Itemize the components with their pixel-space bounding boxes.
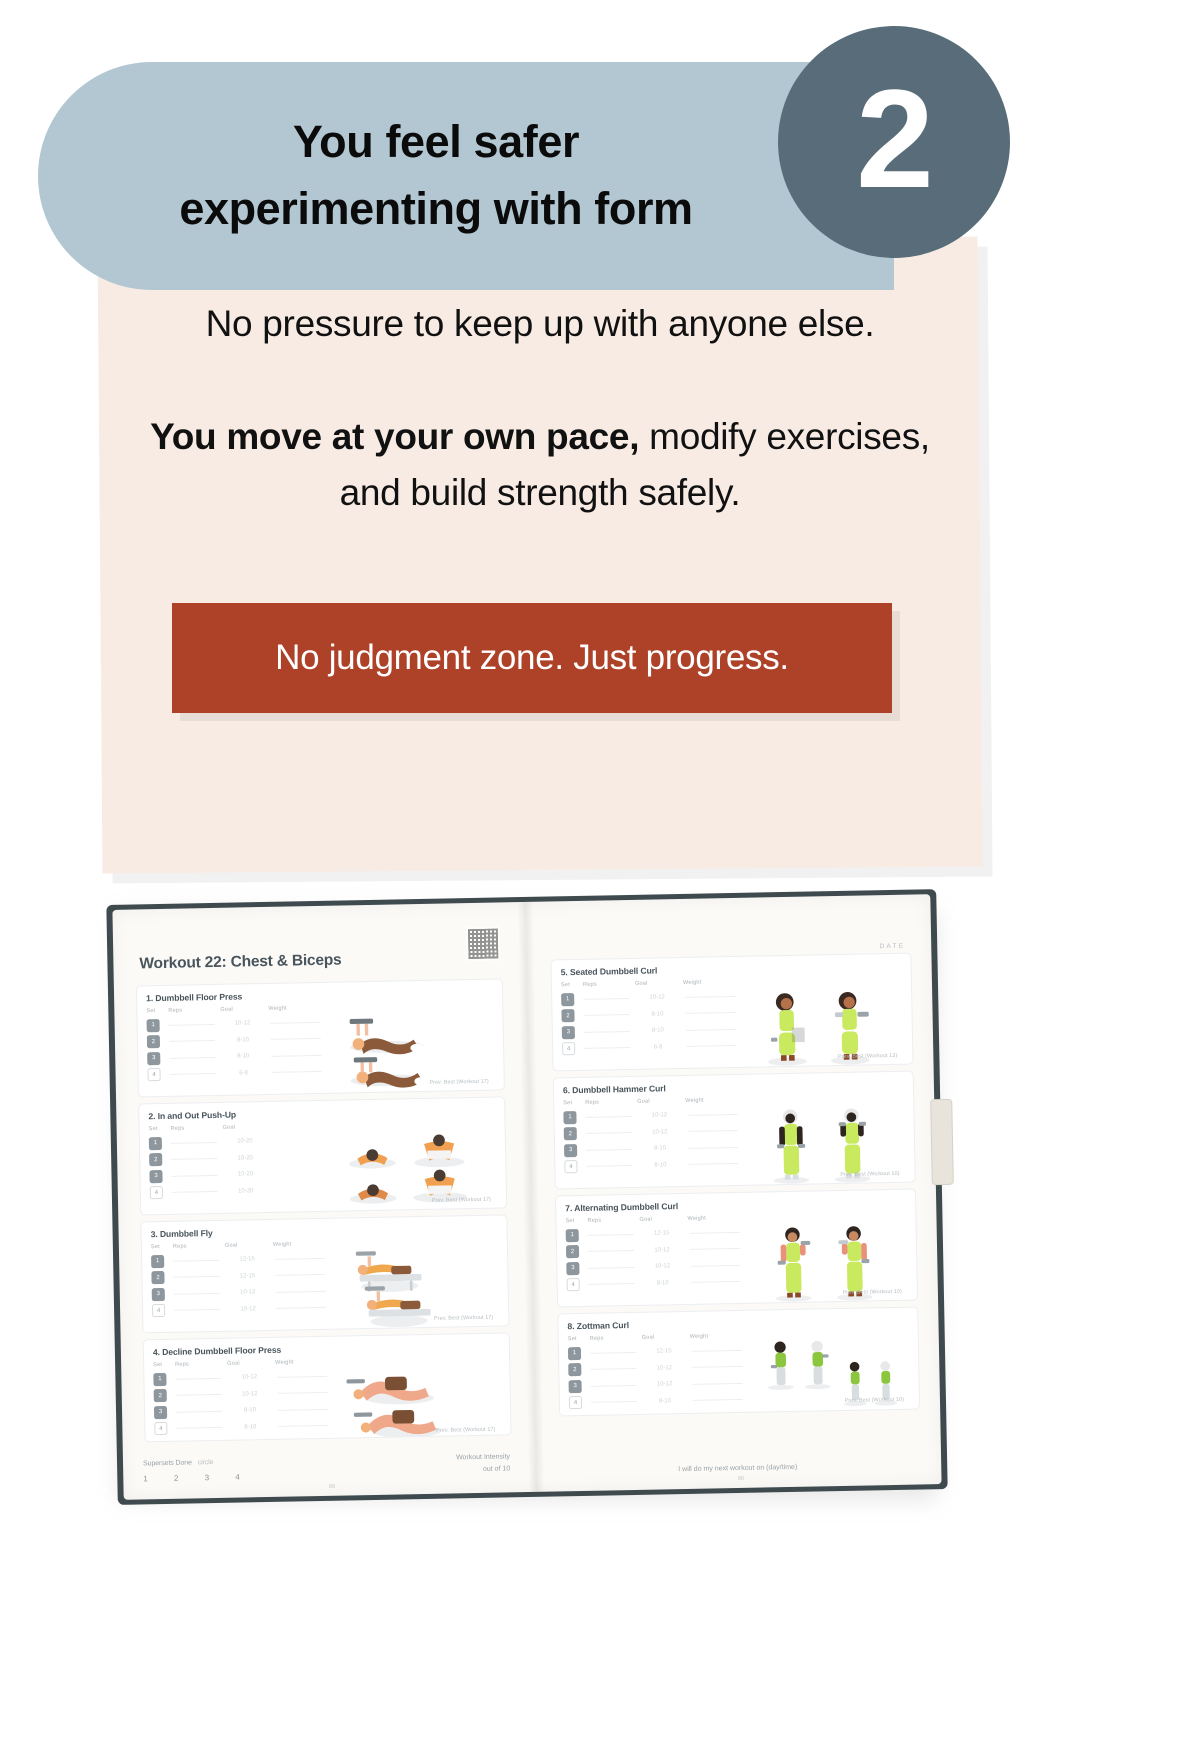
weight-field[interactable]: [271, 1038, 321, 1040]
reps-field[interactable]: [588, 1267, 634, 1269]
body-line-2: You move at your own pace, modify exerci…: [130, 409, 950, 522]
weight-field[interactable]: [693, 1383, 743, 1385]
exercise-name: 8. Zottman Curl: [567, 1315, 908, 1332]
intensity-unit: out of 10: [456, 1463, 510, 1476]
prev-best-line[interactable]: [822, 1066, 898, 1068]
set-number: 1: [566, 1229, 579, 1242]
goal-value: 10-12: [229, 1391, 271, 1398]
reps-field[interactable]: [172, 1175, 218, 1177]
table-row: 48-10: [564, 1155, 752, 1175]
notebook-right-page: DATE 5. Seated Dumbbell Curl Set Reps Go…: [521, 894, 941, 1492]
set-number: 4: [564, 1160, 577, 1173]
reps-field[interactable]: [585, 1116, 631, 1118]
body-line-1: No pressure to keep up with anyone else.: [130, 300, 950, 349]
weight-field[interactable]: [275, 1258, 325, 1260]
weight-field[interactable]: [688, 1130, 738, 1132]
page-number: 89: [329, 1484, 335, 1490]
reps-field[interactable]: [584, 1031, 630, 1033]
column-set: Set: [565, 1218, 587, 1224]
notebook-elastic-band: [930, 1099, 954, 1185]
notebook-spread: Workout 22: Chest & Biceps 1. Dumbbell F…: [112, 894, 941, 1500]
prev-best-line[interactable]: [413, 1092, 489, 1094]
weight-field[interactable]: [690, 1248, 740, 1250]
reps-field[interactable]: [173, 1276, 219, 1278]
set-number: 3: [564, 1144, 577, 1157]
prev-best-line[interactable]: [828, 1410, 904, 1412]
reps-field[interactable]: [589, 1283, 635, 1285]
intensity-label: Workout Intensity: [456, 1451, 510, 1464]
exercise-card: 1. Dumbbell Floor Press Set Reps Goal We…: [136, 978, 505, 1097]
workout-intensity: Workout Intensity out of 10: [456, 1451, 510, 1476]
goal-value: 8-10: [229, 1407, 271, 1414]
callout-banner: No judgment zone. Just progress.: [172, 603, 892, 713]
reps-field[interactable]: [174, 1309, 220, 1311]
prev-best-label: Prev. Best (Workout 10): [840, 1171, 899, 1178]
poster-page: You feel safer experimenting with form 2…: [0, 0, 1200, 1758]
workout-title: Workout 22: Chest & Biceps: [139, 948, 504, 973]
weight-field[interactable]: [692, 1366, 742, 1368]
weight-field[interactable]: [688, 1147, 738, 1149]
exercise-name: 7. Alternating Dumbbell Curl: [565, 1197, 906, 1214]
goal-value: 10-20: [224, 1171, 266, 1178]
column-set: Set: [151, 1244, 173, 1250]
column-reps: Reps: [171, 1125, 223, 1132]
goal-value: 12-15: [641, 1230, 683, 1237]
exercise-card: 8. Zottman Curl Set Reps Goal Weight 112…: [557, 1307, 920, 1417]
goal-value: 12-15: [226, 1256, 268, 1263]
weight-field[interactable]: [277, 1376, 327, 1378]
column-weight: Weight: [268, 1005, 318, 1012]
exercise-name: 2. In and Out Push-Up: [148, 1105, 495, 1122]
page-number: 90: [738, 1476, 744, 1482]
column-weight: Weight: [690, 1333, 740, 1340]
weight-field[interactable]: [690, 1265, 740, 1267]
prev-best-label: Prev. Best (Workout 17): [429, 1079, 488, 1086]
goal-value: 10-12: [636, 994, 678, 1001]
reps-field[interactable]: [169, 1040, 215, 1042]
exercise-name: 6. Dumbbell Hammer Curl: [563, 1079, 904, 1096]
column-reps: Reps: [168, 1007, 220, 1014]
column-set: Set: [149, 1126, 171, 1132]
reps-field[interactable]: [171, 1158, 217, 1160]
headline-pill: You feel safer experimenting with form: [38, 62, 894, 290]
reps-field[interactable]: [590, 1368, 636, 1370]
goal-value: 8-10: [642, 1280, 684, 1287]
column-weight: Weight: [273, 1241, 323, 1248]
weight-field[interactable]: [688, 1163, 738, 1165]
exercise-table: Set Reps Goal Weight 110-12 28-10 38-10 …: [561, 979, 751, 1072]
column-goal: Goal: [220, 1006, 268, 1013]
goal-value: 10-12: [222, 1020, 264, 1027]
exercise-table: Set Reps Goal Weight 112-15 212-15 310-1…: [151, 1241, 341, 1334]
column-set: Set: [561, 982, 583, 988]
set-number: 3: [569, 1380, 582, 1393]
notebook-left-page: Workout 22: Chest & Biceps 1. Dumbbell F…: [112, 902, 532, 1500]
prev-best-label: Prev. Best (Workout 10): [845, 1397, 904, 1404]
weight-field[interactable]: [687, 1114, 737, 1116]
set-number: 1: [568, 1347, 581, 1360]
table-header: Set Reps Goal Weight: [561, 979, 749, 989]
goal-value: 10-12: [639, 1129, 681, 1136]
column-set: Set: [146, 1008, 168, 1014]
notebook-photo: Workout 22: Chest & Biceps 1. Dumbbell F…: [100, 885, 1100, 1525]
goal-value: 8-10: [229, 1424, 271, 1431]
set-number: 4: [152, 1304, 165, 1317]
reps-field[interactable]: [176, 1427, 222, 1429]
set-number: 2: [147, 1035, 160, 1048]
exercise-table: Set Reps Goal Weight 112-15 210-12 310-1…: [568, 1333, 758, 1417]
weight-field[interactable]: [690, 1232, 740, 1234]
set-number: 4: [562, 1042, 575, 1055]
set-number: 3: [566, 1262, 579, 1275]
exercise-name: 5. Seated Dumbbell Curl: [561, 961, 902, 978]
column-weight: Weight: [687, 1215, 737, 1222]
exercise-card: 6. Dumbbell Hammer Curl Set Reps Goal We…: [553, 1071, 916, 1190]
exercise-table: Set Reps Goal Weight 110-12 28-10 38-10 …: [146, 1005, 336, 1098]
goal-value: 6-8: [223, 1070, 265, 1077]
exercise-table: Set Reps Goal Weight 110-12 210-12 38-10…: [153, 1359, 343, 1443]
callout-text: No judgment zone. Just progress.: [275, 638, 789, 678]
exercise-illustration: Prev. Best (Workout 17): [339, 1238, 500, 1334]
column-goal: Goal: [639, 1216, 687, 1223]
column-set: Set: [568, 1336, 590, 1342]
exercise-table: Set Reps Goal Weight 112-15 210-12 310-1…: [565, 1215, 755, 1308]
exercise-card: 5. Seated Dumbbell Curl Set Reps Goal We…: [550, 953, 913, 1072]
exercise-illustration: Prev. Best (Workout 17): [337, 1120, 498, 1216]
exercise-table: Set Reps Goal Weight 110-12 210-12 38-10…: [563, 1097, 753, 1190]
prev-best-label: Prev. Best (Workout 17): [436, 1427, 495, 1434]
reps-field[interactable]: [583, 998, 629, 1000]
reps-field[interactable]: [176, 1411, 222, 1413]
exercise-card: 7. Alternating Dumbbell Curl Set Reps Go…: [555, 1189, 918, 1308]
set-number: 4: [567, 1278, 580, 1291]
column-goal: Goal: [223, 1124, 271, 1131]
table-row: 46-8: [147, 1063, 335, 1083]
goal-value: 8-10: [222, 1037, 264, 1044]
reps-field[interactable]: [584, 1047, 630, 1049]
set-number: 3: [152, 1288, 165, 1301]
reps-field[interactable]: [586, 1132, 632, 1134]
reps-field[interactable]: [591, 1385, 637, 1387]
set-number: 1: [147, 1019, 160, 1032]
column-reps: Reps: [587, 1217, 639, 1224]
table-row: 48-10: [567, 1273, 755, 1293]
reps-field[interactable]: [174, 1293, 220, 1295]
prev-best-label: Prev. Best (Workout 17): [432, 1197, 491, 1204]
goal-value: 8-10: [637, 1027, 679, 1034]
supersets-label: Supersets Done: [143, 1459, 192, 1467]
weight-field[interactable]: [275, 1274, 325, 1276]
table-row: 410-12: [152, 1299, 340, 1319]
weight-field[interactable]: [686, 1029, 736, 1031]
table-row: 410-20: [150, 1181, 338, 1201]
column-reps: Reps: [585, 1099, 637, 1106]
set-number: 3: [154, 1406, 167, 1419]
qr-code-icon: [466, 926, 501, 961]
exercise-illustration: Prev. Best (Workout 12): [749, 976, 904, 1072]
reps-field[interactable]: [588, 1250, 634, 1252]
reps-field[interactable]: [586, 1165, 632, 1167]
column-weight: Weight: [275, 1359, 325, 1366]
set-number: 1: [151, 1255, 164, 1268]
set-number: 2: [154, 1389, 167, 1402]
weight-field[interactable]: [276, 1307, 326, 1309]
table-header: Set Reps Goal Weight: [151, 1241, 339, 1251]
set-number: 2: [149, 1153, 162, 1166]
goal-value: 10-12: [227, 1306, 269, 1313]
exercise-name: 3. Dumbbell Fly: [151, 1223, 498, 1240]
column-goal: Goal: [635, 980, 683, 987]
set-number: 1: [153, 1373, 166, 1386]
zottman-curl-figure-icon: [756, 1330, 911, 1417]
promo-card: You feel safer experimenting with form 2…: [0, 0, 1200, 900]
exercise-name: 1. Dumbbell Floor Press: [146, 987, 493, 1004]
goal-value: 10-20: [224, 1138, 266, 1145]
right-page-footer: I will do my next workout on (day/time) …: [552, 1461, 923, 1475]
exercise-table: Set Reps Goal 110-20 210-20 310-20 410-2…: [149, 1123, 339, 1216]
goal-value: 12-15: [226, 1273, 268, 1280]
reps-field[interactable]: [586, 1149, 632, 1151]
column-reps: Reps: [590, 1335, 642, 1342]
weight-field[interactable]: [685, 996, 735, 998]
column-goal: Goal: [225, 1242, 273, 1249]
column-goal: Goal: [227, 1360, 275, 1367]
exercise-card: 3. Dumbbell Fly Set Reps Goal Weight 112…: [140, 1214, 509, 1333]
prev-best-line[interactable]: [415, 1210, 491, 1212]
set-number: 2: [564, 1127, 577, 1140]
prev-best-label: Prev. Best (Workout 12): [838, 1053, 897, 1060]
goal-value: 10-20: [225, 1188, 267, 1195]
reps-field[interactable]: [590, 1352, 636, 1354]
weight-field[interactable]: [693, 1399, 743, 1401]
exercise-illustration: Prev. Best (Workout 10): [756, 1330, 911, 1417]
set-number: 1: [561, 993, 574, 1006]
exercise-illustration: Prev. Best (Workout 10): [753, 1212, 908, 1308]
column-set: Set: [153, 1362, 175, 1368]
next-workout-label[interactable]: I will do my next workout on (day/time): [678, 1464, 797, 1473]
table-row: 48-10: [154, 1417, 342, 1437]
goal-value: 8-10: [639, 1162, 681, 1169]
column-reps: Reps: [173, 1243, 225, 1250]
set-number: 2: [568, 1363, 581, 1376]
prev-best-label: Prev. Best (Workout 10): [843, 1289, 902, 1296]
step-number-badge: 2: [778, 26, 1010, 258]
reps-field[interactable]: [584, 1014, 630, 1016]
weight-field[interactable]: [272, 1071, 322, 1073]
weight-field[interactable]: [278, 1425, 328, 1427]
goal-value: 10-12: [643, 1365, 685, 1372]
weight-field[interactable]: [271, 1022, 321, 1024]
reps-field[interactable]: [588, 1234, 634, 1236]
page-title: You feel safer experimenting with form: [179, 109, 692, 242]
reps-field[interactable]: [172, 1191, 218, 1193]
set-number: 1: [563, 1111, 576, 1124]
goal-value: 10-12: [641, 1247, 683, 1254]
table-header: Set Reps Goal Weight: [153, 1359, 341, 1369]
weight-field[interactable]: [276, 1291, 326, 1293]
goal-value: 10-12: [227, 1289, 269, 1296]
weight-field[interactable]: [686, 1045, 736, 1047]
exercise-name: 4. Decline Dumbbell Floor Press: [153, 1341, 500, 1358]
weight-field[interactable]: [278, 1409, 328, 1411]
weight-field[interactable]: [278, 1392, 328, 1394]
table-row: 48-10: [569, 1391, 757, 1411]
weight-field[interactable]: [691, 1281, 741, 1283]
prev-best-line[interactable]: [420, 1440, 496, 1442]
goal-value: 8-10: [639, 1145, 681, 1152]
goal-value: 12-15: [643, 1348, 685, 1355]
supersets-note: circle: [198, 1459, 214, 1466]
set-number: 3: [562, 1026, 575, 1039]
column-weight: Weight: [683, 979, 733, 986]
goal-value: 10-20: [224, 1155, 266, 1162]
set-number: 2: [561, 1009, 574, 1022]
set-number: 3: [149, 1170, 162, 1183]
set-number: 2: [151, 1271, 164, 1284]
reps-field[interactable]: [176, 1394, 222, 1396]
table-header: Set Reps Goal Weight: [565, 1215, 753, 1225]
reps-field[interactable]: [173, 1260, 219, 1262]
weight-field[interactable]: [692, 1350, 742, 1352]
step-number-value: 2: [856, 69, 932, 209]
exercise-illustration: Prev. Best (Workout 17): [334, 1002, 495, 1098]
column-goal: Goal: [642, 1334, 690, 1341]
goal-value: 8-10: [222, 1053, 264, 1060]
table-row: 46-8: [562, 1037, 750, 1057]
column-goal: Goal: [637, 1098, 685, 1105]
weight-field[interactable]: [271, 1055, 321, 1057]
set-number: 4: [154, 1422, 167, 1435]
table-header: Set Reps Goal Weight: [563, 1097, 751, 1107]
exercise-illustration: Prev. Best (Workout 17): [341, 1356, 502, 1443]
set-number: 4: [150, 1186, 163, 1199]
table-header: Set Reps Goal Weight: [146, 1005, 334, 1015]
goal-value: 10-12: [644, 1381, 686, 1388]
column-set: Set: [563, 1100, 585, 1106]
table-header: Set Reps Goal Weight: [568, 1333, 756, 1343]
weight-field[interactable]: [686, 1012, 736, 1014]
set-number: 4: [569, 1396, 582, 1409]
column-reps: Reps: [175, 1361, 227, 1368]
set-number: 4: [147, 1068, 160, 1081]
table-header: Set Reps Goal: [149, 1123, 337, 1133]
card-body: No pressure to keep up with anyone else.…: [130, 300, 950, 522]
goal-value: 10-12: [638, 1112, 680, 1119]
reps-field[interactable]: [171, 1142, 217, 1144]
reps-field[interactable]: [169, 1024, 215, 1026]
body-line-2-bold: You move at your own pace,: [150, 416, 639, 457]
goal-value: 6-8: [637, 1044, 679, 1051]
reps-field[interactable]: [170, 1073, 216, 1075]
goal-value: 8-10: [636, 1011, 678, 1018]
exercise-card: 2. In and Out Push-Up Set Reps Goal 110-…: [138, 1096, 507, 1215]
prev-best-label: Prev. Best (Workout 17): [434, 1315, 493, 1322]
reps-field[interactable]: [169, 1057, 215, 1059]
exercise-card: 4. Decline Dumbbell Floor Press Set Reps…: [143, 1332, 512, 1442]
prev-best-line[interactable]: [826, 1302, 902, 1304]
left-page-footer: Supersets Done circle 1 2 3 4 Workout In…: [143, 1453, 514, 1483]
set-number: 1: [149, 1137, 162, 1150]
notebook: Workout 22: Chest & Biceps 1. Dumbbell F…: [106, 889, 947, 1505]
reps-field[interactable]: [591, 1401, 637, 1403]
prev-best-line[interactable]: [418, 1328, 494, 1330]
set-number: 2: [566, 1245, 579, 1258]
prev-best-line[interactable]: [824, 1184, 900, 1186]
goal-value: 10-12: [641, 1263, 683, 1270]
goal-value: 10-12: [228, 1374, 270, 1381]
goal-value: 8-10: [644, 1398, 686, 1405]
column-reps: Reps: [583, 981, 635, 988]
exercise-illustration: Prev. Best (Workout 10): [751, 1094, 906, 1190]
date-label[interactable]: DATE: [880, 943, 906, 950]
reps-field[interactable]: [175, 1378, 221, 1380]
set-number: 3: [147, 1052, 160, 1065]
column-weight: Weight: [685, 1097, 735, 1104]
